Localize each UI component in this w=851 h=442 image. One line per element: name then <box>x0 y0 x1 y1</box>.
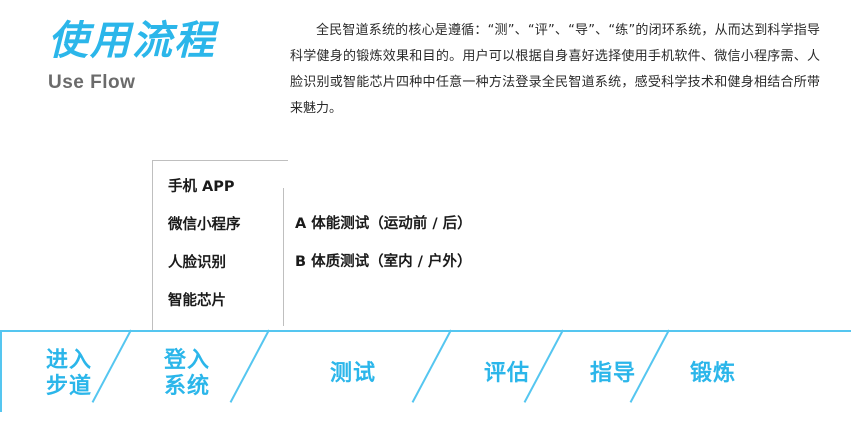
test-item-1: B 体质测试（室内 / 户外） <box>295 243 555 281</box>
diagram-canvas: 使用流程 Use Flow 全民智道系统的核心是遵循：“测”、“评”、“导”、“… <box>0 0 851 442</box>
method-item-1: 微信小程序 <box>168 206 278 244</box>
page-title-cn: 使用流程 <box>48 18 288 64</box>
flow-step-1-line-1: 系统 <box>164 374 210 400</box>
intro-paragraph: 全民智道系统的核心是遵循：“测”、“评”、“导”、“练”的闭环系统，从而达到科学… <box>290 18 820 122</box>
flow-step-4-line-0: 指导 <box>590 348 636 400</box>
flow-step-2: 测试 <box>330 348 376 400</box>
connector-methods-vertical <box>152 160 153 330</box>
flow-step-5: 锻炼 <box>690 348 736 400</box>
flow-step-1-line-0: 登入 <box>164 348 210 374</box>
flow-step-0-line-0: 进入 <box>46 348 92 374</box>
flow-separator-2 <box>412 330 452 403</box>
test-item-0: A 体能测试（运动前 / 后） <box>295 205 555 243</box>
title-block: 使用流程 Use Flow <box>48 18 288 94</box>
flow-step-5-line-0: 锻炼 <box>690 348 736 400</box>
flow-step-3: 评估 <box>484 348 530 400</box>
flow-step-0-line-1: 步道 <box>46 374 92 400</box>
method-item-0: 手机 APP <box>168 168 278 206</box>
flow-step-4: 指导 <box>590 348 636 400</box>
connector-methods-horizontal <box>152 160 288 161</box>
method-item-3: 智能芯片 <box>168 282 278 320</box>
flow-step-0: 进入 步道 <box>46 348 92 400</box>
flow-separator-0 <box>92 330 132 403</box>
flow-step-2-line-0: 测试 <box>330 348 376 400</box>
flow-step-3-line-0: 评估 <box>484 348 530 400</box>
page-title-en: Use Flow <box>48 72 288 94</box>
flow-separator-1 <box>230 330 270 403</box>
list-separator <box>283 188 284 326</box>
method-item-2: 人脸识别 <box>168 244 278 282</box>
flow-step-1: 登入 系统 <box>164 348 210 400</box>
test-list: A 体能测试（运动前 / 后） B 体质测试（室内 / 户外） <box>295 205 555 281</box>
flow-band: 进入 步道 登入 系统 测试 评估 指导 锻炼 <box>0 330 851 412</box>
method-list: 手机 APP 微信小程序 人脸识别 智能芯片 <box>168 168 278 320</box>
